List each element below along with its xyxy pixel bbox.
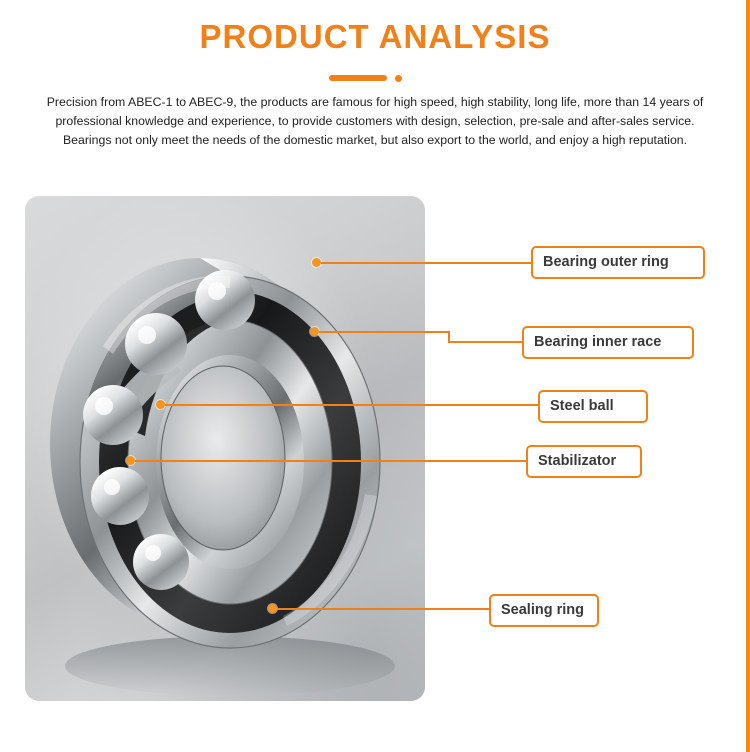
callout-leader-inner-race-h2 [448, 341, 523, 343]
intro-paragraph: Precision from ABEC-1 to ABEC-9, the pro… [45, 93, 705, 150]
callout-bearing-outer-ring[interactable]: Bearing outer ring [531, 246, 705, 279]
page-root: PRODUCT ANALYSIS Precision from ABEC-1 t… [0, 0, 750, 752]
title-divider [0, 73, 750, 83]
callout-leader-stabilizator [135, 460, 526, 462]
callout-stabilizator[interactable]: Stabilizator [526, 445, 642, 478]
divider-dot [395, 75, 402, 82]
callout-anchor-sealing-ring [268, 604, 277, 613]
callout-sealing-ring[interactable]: Sealing ring [489, 594, 599, 627]
callout-anchor-stabilizator [126, 456, 135, 465]
callout-leader-steel-ball [165, 404, 538, 406]
callout-steel-ball[interactable]: Steel ball [538, 390, 648, 423]
callout-leader-sealing-ring [277, 608, 489, 610]
callout-leader-outer-ring [321, 262, 531, 264]
callout-anchor-inner-race [310, 327, 319, 336]
divider-bar [329, 75, 387, 81]
page-title: PRODUCT ANALYSIS [0, 18, 750, 56]
callout-bearing-inner-race[interactable]: Bearing inner race [522, 326, 694, 359]
callout-anchor-outer-ring [312, 258, 321, 267]
product-photo [25, 196, 425, 701]
callout-anchor-steel-ball [156, 400, 165, 409]
callout-leader-inner-race-h1 [319, 331, 449, 333]
bearing-illustration [25, 196, 425, 701]
